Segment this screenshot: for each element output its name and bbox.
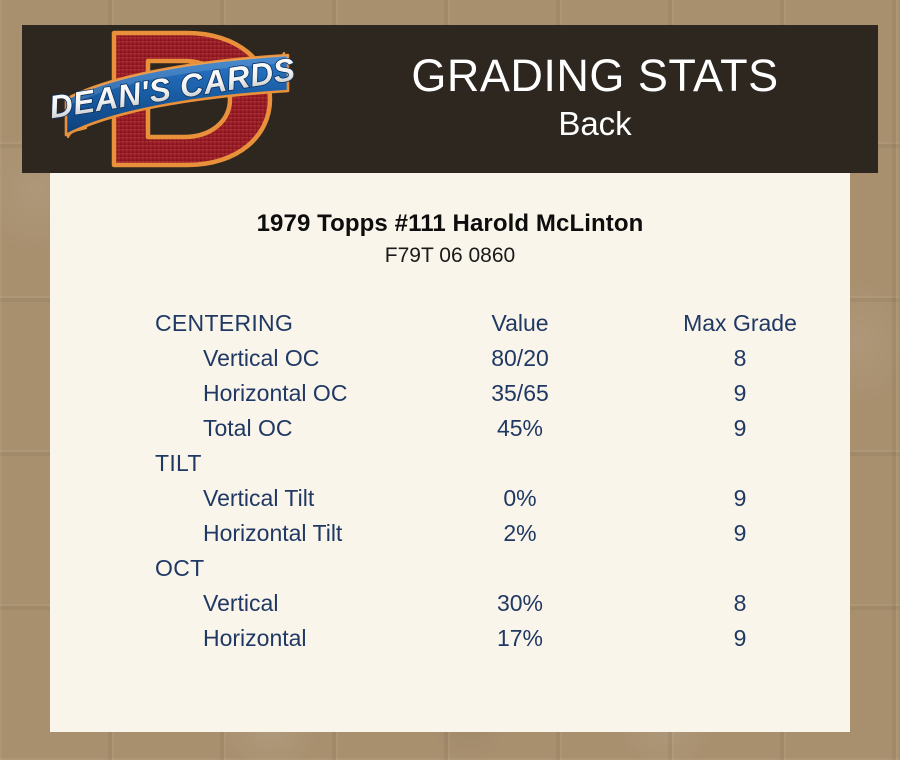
table-row: Vertical OC80/208: [50, 341, 850, 376]
page-subtitle: Back: [558, 103, 631, 145]
row-label: Vertical: [50, 586, 410, 621]
section-label-oct: OCT: [50, 551, 410, 586]
section-spacer-grade: [630, 551, 850, 586]
row-max-grade: 8: [630, 341, 850, 376]
row-max-grade: 9: [630, 411, 850, 446]
table-header-row: CENTERING Value Max Grade: [50, 306, 850, 341]
column-header-value: Value: [410, 306, 630, 341]
page-title: GRADING STATS: [411, 49, 778, 103]
logo-svg: DEAN'S CARDS: [52, 25, 302, 173]
header-title-block: GRADING STATS Back: [312, 25, 878, 173]
row-value: 2%: [410, 516, 630, 551]
row-value: 0%: [410, 481, 630, 516]
table-row: Horizontal Tilt2%9: [50, 516, 850, 551]
table-body: Vertical OC80/208Horizontal OC35/659Tota…: [50, 341, 850, 656]
card-serial-number: F79T 06 0860: [50, 242, 850, 270]
row-max-grade: 8: [630, 586, 850, 621]
row-value: 35/65: [410, 376, 630, 411]
row-max-grade: 9: [630, 516, 850, 551]
row-label: Horizontal OC: [50, 376, 410, 411]
row-value: 17%: [410, 621, 630, 656]
row-label: Horizontal Tilt: [50, 516, 410, 551]
row-label: Vertical Tilt: [50, 481, 410, 516]
section-spacer-grade: [630, 446, 850, 481]
header-band: DEAN'S CARDS GRADING STATS Back: [22, 25, 878, 173]
table-row: Vertical30%8: [50, 586, 850, 621]
table-row: Total OC45%9: [50, 411, 850, 446]
row-max-grade: 9: [630, 621, 850, 656]
column-header-max-grade: Max Grade: [630, 306, 850, 341]
table-row: Horizontal OC35/659: [50, 376, 850, 411]
grading-stats-table: CENTERING Value Max Grade Vertical OC80/…: [50, 306, 850, 656]
section-label-tilt: TILT: [50, 446, 410, 481]
section-header-row: TILT: [50, 446, 850, 481]
row-value: 30%: [410, 586, 630, 621]
content-panel: 1979 Topps #111 Harold McLinton F79T 06 …: [50, 173, 850, 732]
table-row: Vertical Tilt0%9: [50, 481, 850, 516]
table-row: Horizontal17%9: [50, 621, 850, 656]
section-header-row: OCT: [50, 551, 850, 586]
deans-cards-logo[interactable]: DEAN'S CARDS: [52, 25, 302, 173]
row-max-grade: 9: [630, 376, 850, 411]
row-max-grade: 9: [630, 481, 850, 516]
card-title: 1979 Topps #111 Harold McLinton: [50, 209, 850, 239]
row-label: Horizontal: [50, 621, 410, 656]
section-spacer-value: [410, 446, 630, 481]
row-value: 45%: [410, 411, 630, 446]
row-label: Total OC: [50, 411, 410, 446]
column-header-centering: CENTERING: [50, 306, 410, 341]
row-value: 80/20: [410, 341, 630, 376]
table-head: CENTERING Value Max Grade: [50, 306, 850, 341]
row-label: Vertical OC: [50, 341, 410, 376]
section-spacer-value: [410, 551, 630, 586]
